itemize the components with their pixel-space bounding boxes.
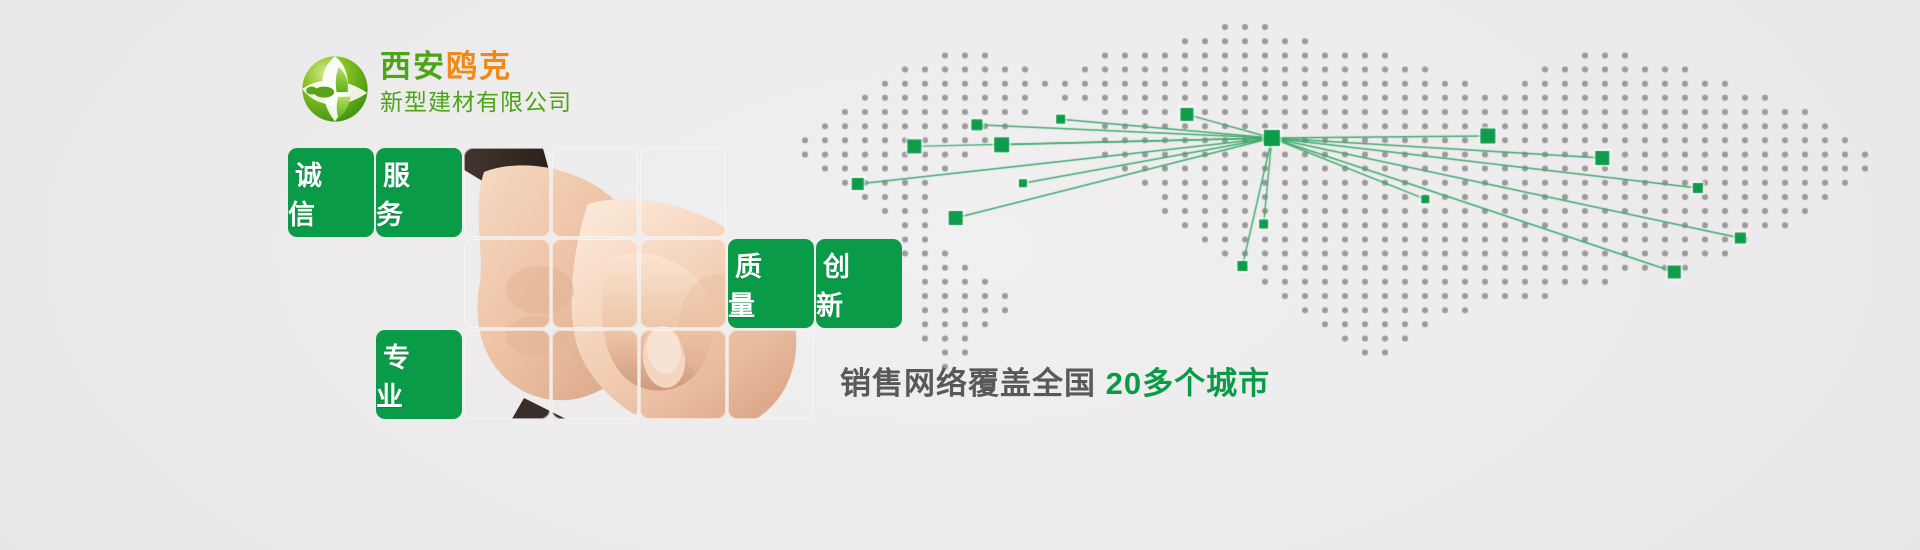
tagline-highlight: 20多个城市 [1106,366,1270,401]
tagline-prefix: 销售网络覆盖全国 [840,366,1096,401]
logo-brand: 鸥克 [446,49,512,84]
photo-tile[interactable] [552,239,638,328]
value-tile-0[interactable]: 诚 信 [288,148,374,237]
logo-line-2: 新型建材有限公司 [380,86,600,118]
photo-tile[interactable] [552,148,638,237]
logo-line-1: 西安鸥克 [380,48,600,86]
logo-wordmark: 西安鸥克 新型建材有限公司 [380,48,600,118]
photo-tile[interactable] [640,330,726,419]
photo-tile[interactable] [552,330,638,419]
photo-tile[interactable] [464,330,550,419]
network-tagline: 销售网络覆盖全国 20多个城市 [840,358,1270,403]
value-tile-label: 诚 信 [288,148,374,237]
photo-tile[interactable] [464,148,550,237]
value-tile-label: 专 业 [376,330,462,419]
value-tile-1[interactable]: 服 务 [376,148,462,237]
value-tile-label: 服 务 [376,148,462,237]
value-tile-10[interactable]: 专 业 [376,330,462,419]
world-network-map [735,16,1915,416]
photo-tile[interactable] [640,148,726,237]
map-canvas [735,16,1915,416]
photo-tile[interactable] [464,239,550,328]
photo-tile[interactable] [640,239,726,328]
globe-leaf-icon [296,50,374,128]
logo-city: 西安 [380,49,446,84]
hero-banner: 西安鸥克 新型建材有限公司 [0,0,1920,550]
company-logo[interactable]: 西安鸥克 新型建材有限公司 [296,46,596,132]
